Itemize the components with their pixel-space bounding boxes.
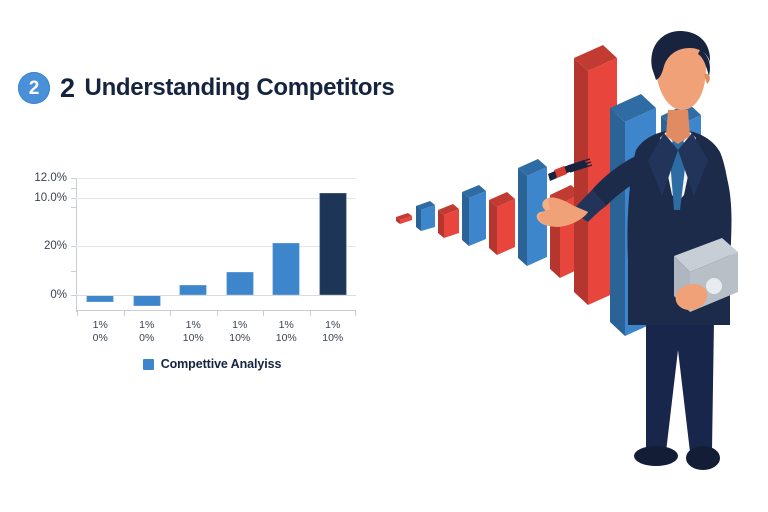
bar[interactable] [180, 285, 207, 296]
section-number: 2 [60, 75, 75, 102]
x-axis-label-line: 1% [217, 319, 264, 332]
y-axis-tick [71, 198, 76, 199]
y-axis-minor-tick [71, 188, 76, 189]
bar[interactable] [319, 193, 346, 296]
bar-series [77, 178, 356, 310]
x-axis-tick [217, 311, 264, 316]
x-axis-label-line: 1% [77, 319, 124, 332]
x-axis-label-line: 0% [124, 332, 171, 345]
y-axis-tick [71, 178, 76, 179]
bar[interactable] [226, 272, 253, 295]
x-axis-label: 1%0% [77, 319, 124, 346]
x-axis-label-line: 0% [77, 332, 124, 345]
y-axis-label: 0% [50, 289, 67, 301]
bar[interactable] [133, 295, 160, 306]
y-axis-label: 12.0% [34, 172, 67, 184]
x-axis-tick [310, 311, 357, 316]
x-axis-label: 1%10% [217, 319, 264, 346]
x-axis-ticks [77, 311, 356, 316]
x-axis-label-line: 10% [217, 332, 264, 345]
chart-legend: Compettive Analyiss [76, 357, 348, 371]
x-axis-tick [77, 311, 124, 316]
x-axis-label-line: 1% [310, 319, 357, 332]
x-axis-tick [170, 311, 217, 316]
bar[interactable] [87, 295, 114, 302]
bar-slot [217, 178, 264, 310]
x-axis-label: 1%10% [310, 319, 357, 346]
x-axis-label-line: 1% [263, 319, 310, 332]
x-axis-labels: 1%0%1%0%1%10%1%10%1%10%1%10% [77, 319, 356, 346]
bar-slot [170, 178, 217, 310]
slide-header: 2 2 Understanding Competitors [18, 72, 394, 104]
bar-slot [310, 178, 357, 310]
page-title: Understanding Competitors [85, 76, 395, 100]
y-axis-minor-tick [71, 207, 76, 208]
bar-slot [124, 178, 171, 310]
y-axis-label: 20% [44, 240, 67, 252]
x-axis-label: 1%0% [124, 319, 171, 346]
x-axis-label: 1%10% [263, 319, 310, 346]
slide-canvas: 2 2 Understanding Competitors 12.0%10.0%… [0, 0, 768, 512]
bar[interactable] [273, 243, 300, 296]
x-axis-label: 1%10% [170, 319, 217, 346]
businessman-illustration [378, 20, 768, 500]
legend-swatch-icon [143, 359, 154, 370]
chart-plot-area: 12.0%10.0%20%0%1%0%1%0%1%10%1%10%1%10%1%… [76, 178, 348, 310]
y-axis-label: 10.0% [34, 192, 67, 204]
x-axis-label-line: 10% [170, 332, 217, 345]
y-axis-minor-tick [71, 271, 76, 272]
section-badge: 2 [18, 72, 50, 104]
x-axis-label-line: 1% [124, 319, 171, 332]
x-axis-label-line: 10% [263, 332, 310, 345]
bar-slot [263, 178, 310, 310]
x-axis-tick [263, 311, 310, 316]
x-axis-label-line: 1% [170, 319, 217, 332]
y-axis-tick [71, 246, 76, 247]
x-axis-label-line: 10% [310, 332, 357, 345]
legend-label: Compettive Analyiss [161, 357, 282, 371]
competitive-analysis-chart: 12.0%10.0%20%0%1%0%1%0%1%10%1%10%1%10%1%… [18, 165, 358, 390]
zero-baseline [76, 295, 356, 296]
bar-slot [77, 178, 124, 310]
x-axis-tick [124, 311, 171, 316]
